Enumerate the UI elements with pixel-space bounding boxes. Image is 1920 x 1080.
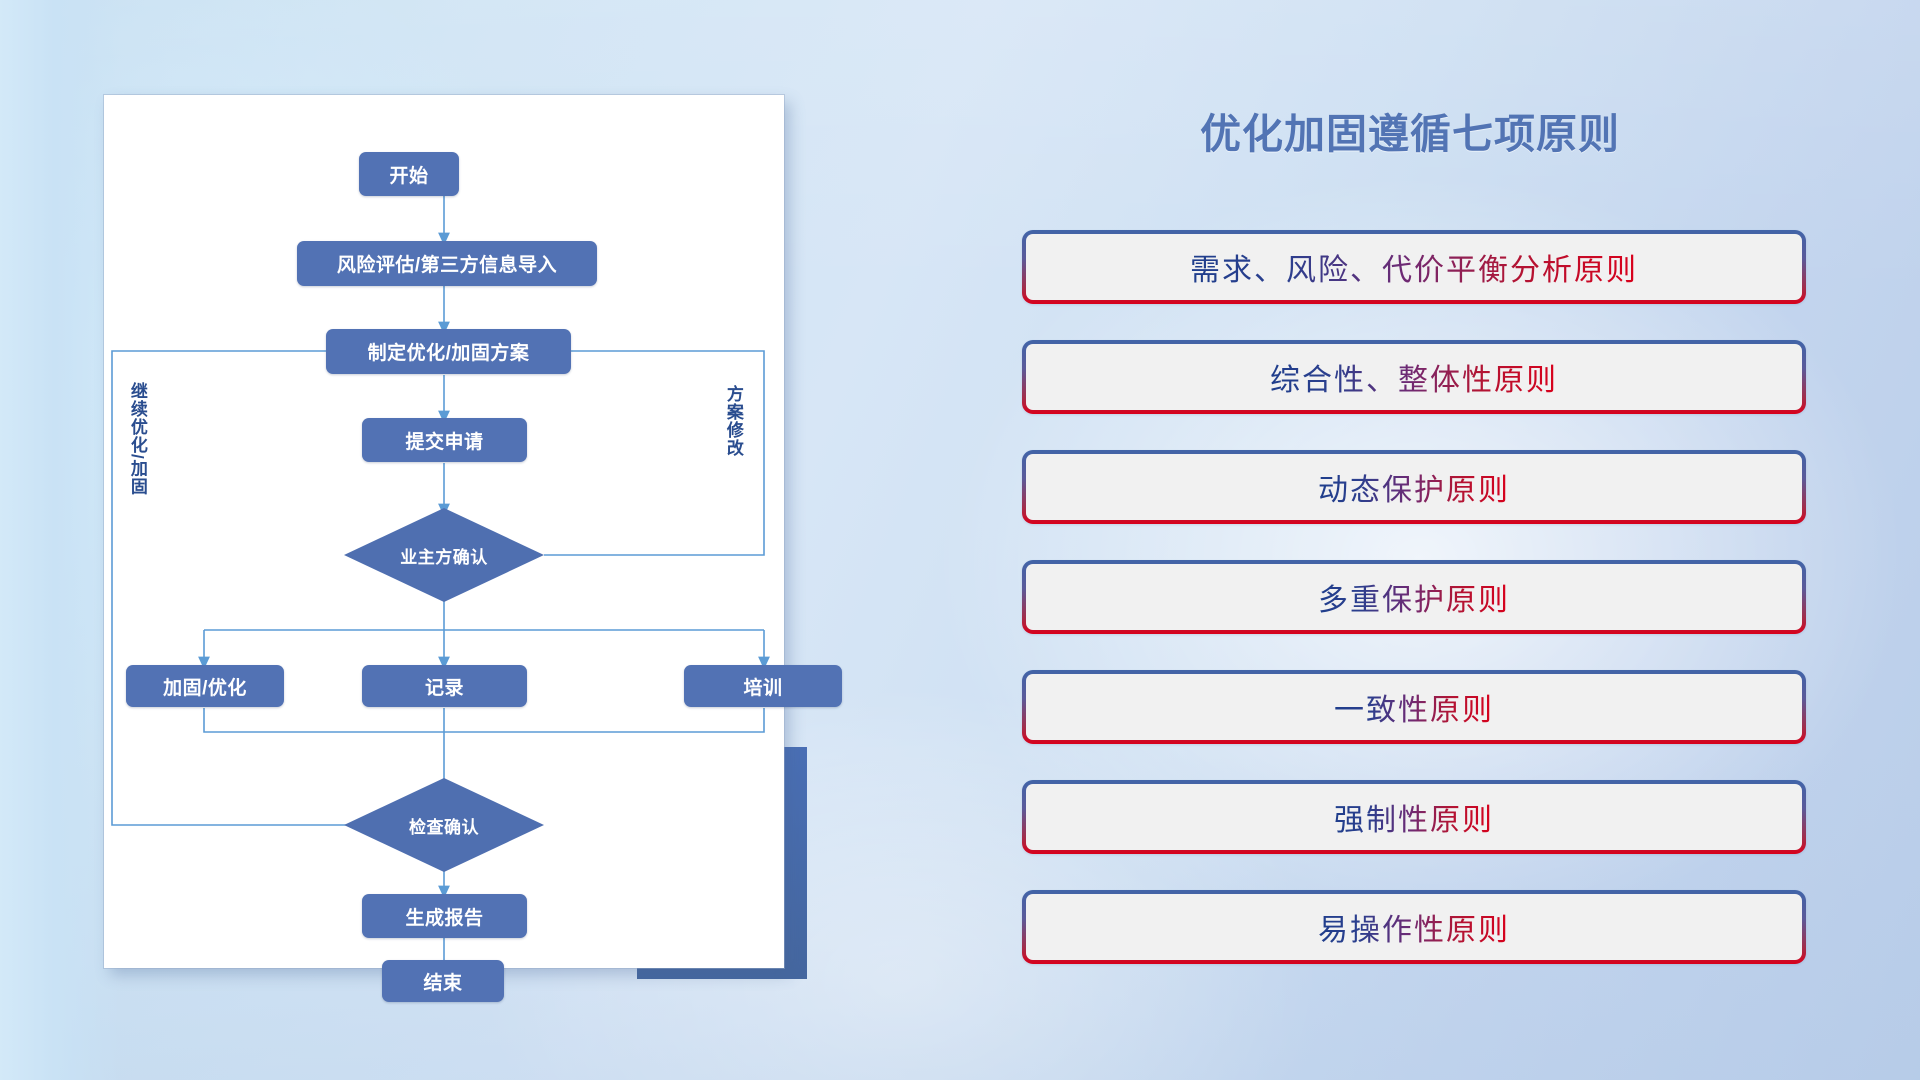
node-report[interactable]: 生成报告 bbox=[362, 894, 527, 938]
node-risk[interactable]: 风险评估/第三方信息导入 bbox=[297, 241, 597, 286]
node-plan[interactable]: 制定优化/加固方案 bbox=[326, 329, 571, 374]
background-left-band bbox=[0, 0, 120, 1080]
principle-item-4[interactable]: 多重保护原则 bbox=[1022, 560, 1806, 634]
principle-item-1[interactable]: 需求、风险、代价平衡分析原则 bbox=[1022, 230, 1806, 304]
principle-label: 综合性、整体性原则 bbox=[1270, 355, 1558, 399]
principle-item-7[interactable]: 易操作性原则 bbox=[1022, 890, 1806, 964]
principle-label: 需求、风险、代价平衡分析原则 bbox=[1190, 245, 1638, 289]
principle-label: 强制性原则 bbox=[1334, 795, 1494, 839]
edge-label-plan-revision: 方案修改 bbox=[724, 385, 742, 505]
node-record[interactable]: 记录 bbox=[362, 665, 527, 707]
principle-item-2[interactable]: 综合性、整体性原则 bbox=[1022, 340, 1806, 414]
node-start[interactable]: 开始 bbox=[359, 152, 459, 196]
principle-item-3[interactable]: 动态保护原则 bbox=[1022, 450, 1806, 524]
flowchart-card: 开始 风险评估/第三方信息导入 制定优化/加固方案 提交申请 业主方确认 加固/… bbox=[104, 95, 784, 968]
node-check-confirm[interactable]: 检查确认 bbox=[344, 805, 544, 845]
node-owner-confirm[interactable]: 业主方确认 bbox=[344, 535, 544, 575]
principle-label: 多重保护原则 bbox=[1318, 575, 1510, 619]
panel-title: 优化加固遵循七项原则 bbox=[1020, 100, 1800, 160]
edge-label-continue-optimize: 继续优化/加固 bbox=[128, 382, 146, 542]
principle-item-6[interactable]: 强制性原则 bbox=[1022, 780, 1806, 854]
node-submit[interactable]: 提交申请 bbox=[362, 418, 527, 462]
principle-item-5[interactable]: 一致性原则 bbox=[1022, 670, 1806, 744]
node-reinforce[interactable]: 加固/优化 bbox=[126, 665, 284, 707]
principles-list: 需求、风险、代价平衡分析原则 综合性、整体性原则 动态保护原则 多重保护原则 一… bbox=[1022, 230, 1806, 1000]
principle-label: 动态保护原则 bbox=[1318, 465, 1510, 509]
node-train[interactable]: 培训 bbox=[684, 665, 842, 707]
node-end[interactable]: 结束 bbox=[382, 960, 504, 1002]
principle-label: 易操作性原则 bbox=[1318, 905, 1510, 949]
principle-label: 一致性原则 bbox=[1334, 685, 1494, 729]
